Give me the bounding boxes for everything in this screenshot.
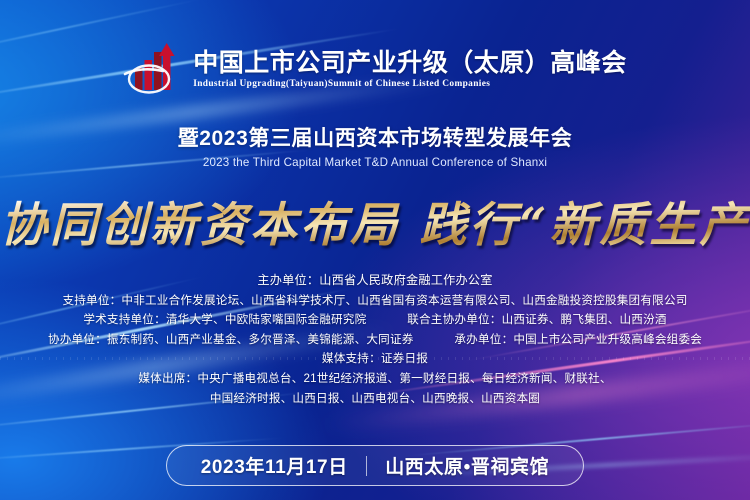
poster-main-headline: 协同创新资本布局 践行“新质生产力” [0,186,750,255]
organizer-line-right: 联合主协办单位：山西证券、鹏飞集团、山西汾酒 [407,313,666,326]
organizer-line-left: 主办单位：山西省人民政府金融工作办公室 [257,273,492,287]
organizers-block: 主办单位：山西省人民政府金融工作办公室 支持单位：中非工业合作发展论坛、山西省科… [0,271,750,408]
date-venue-pill: 2023年11月17日 山西太原•晋祠宾馆 [166,445,585,486]
bar-chart-arrow-globe-logo-icon [123,38,181,100]
organizer-line: 中国经济时报、山西日报、山西电视台、山西晚报、山西资本圈 [0,389,750,409]
pill-divider [366,456,367,476]
organizer-line-left: 支持单位：中非工业合作发展论坛、山西省科学技术厅、山西省国有资本运营有限公司、山… [62,294,687,307]
organizer-line-left: 媒体支持：证券日报 [322,352,428,365]
event-venue: 山西太原•晋祠宾馆 [385,452,549,479]
organization-title-en: Industrial Upgrading(Taiyuan)Summit of C… [193,79,627,89]
subheading-cn: 暨2023第三届山西资本市场转型发展年会 [0,122,750,152]
organizer-line-left: 媒体出席：中央广播电视总台、21世纪经济报道、第一财经日报、每日经济新闻、财联社… [138,372,611,385]
organizer-line: 协办单位：振东制药、山西产业基金、多尔晋泽、美锦能源、大同证券 承办单位：中国上… [0,330,750,350]
organization-title-cn: 中国上市公司产业升级（太原）高峰会 [193,49,627,77]
main-headline-text: 协同创新资本布局 践行“新质生产力” [0,186,750,255]
conference-poster: 中国上市公司产业升级（太原）高峰会 Industrial Upgrading(T… [0,0,750,500]
poster-header: 中国上市公司产业升级（太原）高峰会 Industrial Upgrading(T… [0,38,750,100]
organizer-line-right: 承办单位：中国上市公司产业升级高峰会组委会 [454,333,702,346]
event-date: 2023年11月17日 [201,452,348,479]
organizer-line-left: 中国经济时报、山西日报、山西电视台、山西晚报、山西资本圈 [210,392,540,405]
poster-footer: 2023年11月17日 山西太原•晋祠宾馆 [0,445,750,486]
organizer-line: 媒体支持：证券日报 [0,349,750,369]
subheading-en: 2023 the Third Capital Market T&D Annual… [0,156,750,169]
organizer-line-left: 协办单位：振东制药、山西产业基金、多尔晋泽、美锦能源、大同证券 [48,333,414,346]
organizer-line-left: 学术支持单位：清华大学、中欧陆家嘴国际金融研究院 [83,313,366,326]
organizer-line: 媒体出席：中央广播电视总台、21世纪经济报道、第一财经日报、每日经济新闻、财联社… [0,369,750,389]
organizer-line: 学术支持单位：清华大学、中欧陆家嘴国际金融研究院 联合主协办单位：山西证券、鹏飞… [0,310,750,330]
poster-subheading: 暨2023第三届山西资本市场转型发展年会 2023 the Third Capi… [0,122,750,169]
organizer-line: 支持单位：中非工业合作发展论坛、山西省科学技术厅、山西省国有资本运营有限公司、山… [0,291,750,311]
organizer-line: 主办单位：山西省人民政府金融工作办公室 [0,271,750,291]
